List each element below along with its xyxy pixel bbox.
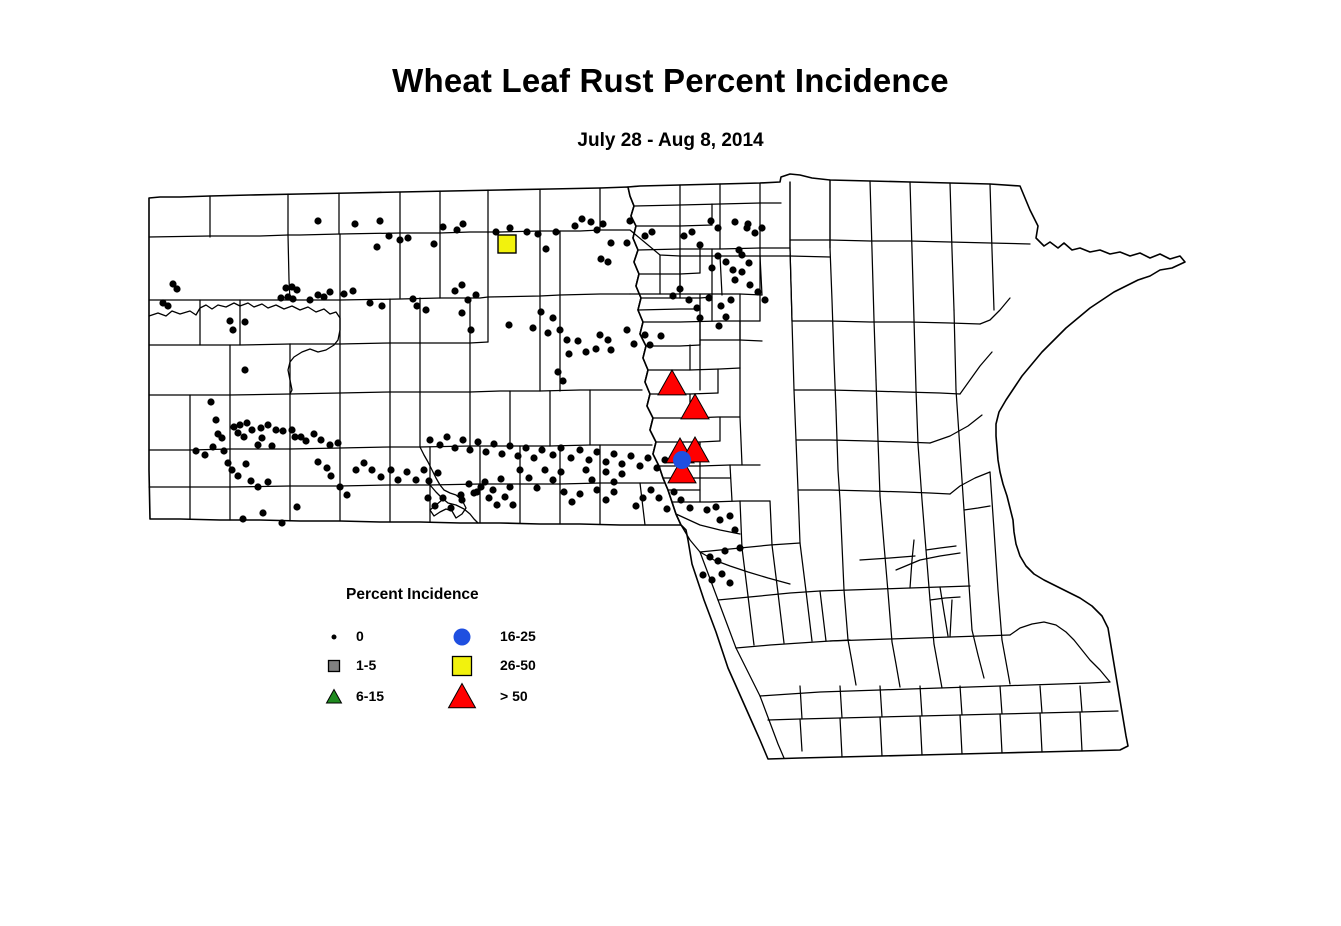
map-point-zero [498,450,505,457]
map-point-zero [653,464,660,471]
map-point-zero [636,462,643,469]
map-point-zero [243,419,250,426]
map-point-zero [761,296,768,303]
map-point-zero [726,579,733,586]
map-point-zero [451,444,458,451]
map-point-zero [509,501,516,508]
map-point-zero [242,460,249,467]
map-point-zero [506,483,513,490]
map-point-zero [758,224,765,231]
map-point-zero [522,444,529,451]
map-point-zero [703,506,710,513]
map-point-zero [485,494,492,501]
map-point-zero [655,494,662,501]
map-point-zero [464,296,471,303]
map-point-zero [648,228,655,235]
map-point-zero [715,322,722,329]
map-point-zero [368,466,375,473]
map-point-zero [571,222,578,229]
map-point-zero [459,436,466,443]
map-point-zero [602,468,609,475]
map-point-zero [501,493,508,500]
map-point-zero [727,296,734,303]
map-point-zero [639,494,646,501]
map-point-zero [385,232,392,239]
map-point-zero [630,340,637,347]
legend-symbol-small-black-dot [318,621,350,653]
map-point-zero [268,442,275,449]
map-point-zero [657,332,664,339]
map-point-zero [239,515,246,522]
map-point-zero [212,416,219,423]
map-point-zero [447,504,454,511]
map-point-zero [349,287,356,294]
map-point-zero [623,326,630,333]
map-point-zero [712,503,719,510]
map-point-zero [514,452,521,459]
map-point-zero [241,318,248,325]
map-point-zero [706,553,713,560]
map-point-zero [272,426,279,433]
map-point-zero [574,337,581,344]
map-point-zero [422,306,429,313]
map-point-zero [688,228,695,235]
map-point-zero [257,424,264,431]
map-point-zero [708,264,715,271]
map-point-zero [538,446,545,453]
map-point-zero [424,494,431,501]
map-point-zero [458,309,465,316]
map-point-zero [373,243,380,250]
map-point-zero [224,459,231,466]
map-point-zero [254,441,261,448]
map-point-zero [680,232,687,239]
map-point-zero [549,451,556,458]
map-point-zero [593,448,600,455]
map-point-zero [326,441,333,448]
map-point-zero [560,488,567,495]
map-point-zero [220,447,227,454]
map-point-zero [677,496,684,503]
map-point-zero [277,294,284,301]
map-point-zero [209,443,216,450]
map-point-zero [377,473,384,480]
map-point-zero [529,324,536,331]
map-point-zero [721,547,728,554]
map-point-zero [722,313,729,320]
map-point-zero [426,436,433,443]
map-point-zero [323,464,330,471]
map-point-zero [218,434,225,441]
map-point-zero [473,488,480,495]
map-canvas [0,0,1341,926]
map-point-zero [326,288,333,295]
legend-symbol-blue-circle [446,621,478,653]
map-point-zero [387,466,394,473]
map-point-zero [317,436,324,443]
map-point-zero [352,466,359,473]
map-page: Wheat Leaf Rust Percent Incidence July 2… [0,0,1341,926]
map-point-zero [258,434,265,441]
map-point-zero [751,229,758,236]
map-point-zero [282,284,289,291]
map-point-zero [593,486,600,493]
map-point-zero [459,220,466,227]
legend-title: Percent Incidence [346,586,479,604]
map-point-zero [489,486,496,493]
map-point-zero [549,314,556,321]
map-point-zero [745,259,752,266]
legend-label-gray-square: 1-5 [356,657,376,673]
map-point-zero [582,466,589,473]
map-point-zero [201,451,208,458]
map-point-zero [541,466,548,473]
map-point-zero [289,295,296,302]
map-point-zero [607,346,614,353]
map-point-zero [610,450,617,457]
map-point-zero [288,426,295,433]
map-point-zero [669,292,676,299]
map-point-zero [602,496,609,503]
map-point-zero [632,502,639,509]
map-point-zero [743,224,750,231]
map-point-zero [736,544,743,551]
map-point-zero [714,252,721,259]
map-point-zero [497,475,504,482]
map-point-zero [716,516,723,523]
map-point-zero [729,266,736,273]
map-point-zero [351,220,358,227]
map-point-zero [610,488,617,495]
map-point-zero [465,480,472,487]
map-point-zero [585,456,592,463]
map-point-zero [229,326,236,333]
map-point-zero [563,336,570,343]
map-point-zero [738,251,745,258]
map-point-zero [457,491,464,498]
map-point-zero [623,239,630,246]
map-point-zero [291,433,298,440]
map-point-zero [247,477,254,484]
map-point-zero [626,217,633,224]
map-point-zero [293,503,300,510]
map-point-zero [306,296,313,303]
legend-label-green-triangle: 6-15 [356,688,384,704]
map-point-zero [542,245,549,252]
map-point-zero [336,483,343,490]
map-point-zero [533,484,540,491]
legend-symbol-green-triangle [318,681,350,713]
map-point-zero [430,240,437,247]
map-point-16-25 [673,451,691,469]
map-point-zero [404,234,411,241]
map-point-zero [481,478,488,485]
map-point-zero [731,218,738,225]
map-point-zero [505,321,512,328]
map-point-zero [366,299,373,306]
map-point-zero [557,468,564,475]
map-point-zero [685,296,692,303]
map-point-zero [559,377,566,384]
map-point-zero [378,302,385,309]
map-point-zero [360,459,367,466]
map-point-zero [234,429,241,436]
map-point-zero [576,446,583,453]
map-point-zero [552,228,559,235]
map-point-zero [434,469,441,476]
map-point-zero [310,430,317,437]
map-point-zero [409,295,416,302]
map-point-zero [593,226,600,233]
map-point-zero [537,308,544,315]
map-point-zero [647,486,654,493]
map-point-zero [554,368,561,375]
north-dakota-outline [149,187,681,525]
map-point-zero [627,452,634,459]
map-point-zero [676,285,683,292]
map-point-zero [254,483,261,490]
map-point-zero [693,304,700,311]
map-point-zero [314,217,321,224]
map-point-zero [234,472,241,479]
map-point-zero [425,477,432,484]
map-point-zero [431,502,438,509]
map-point-zero [602,458,609,465]
map-point-zero [708,576,715,583]
map-point-zero [240,433,247,440]
map-point-zero [523,228,530,235]
map-point-zero [549,476,556,483]
legend-symbol-gray-square [318,650,350,682]
map-point-zero [453,226,460,233]
map-point-zero [696,314,703,321]
map-point-zero [544,329,551,336]
map-point-26-50 [498,235,516,253]
legend-label-blue-circle: 16-25 [500,628,536,644]
map-point-zero [582,348,589,355]
map-point-zero [396,236,403,243]
map-point-zero [556,326,563,333]
map-point-zero [293,286,300,293]
map-point-zero [738,268,745,275]
map-point-zero [604,336,611,343]
map-point-zero [726,512,733,519]
map-point-zero [588,476,595,483]
map-point-zero [474,438,481,445]
map-point-zero [506,224,513,231]
map-point-zero [493,501,500,508]
map-point-zero [343,491,350,498]
map-point-zero [516,466,523,473]
map-point-zero [314,458,321,465]
map-point-zero [394,476,401,483]
map-point-zero [439,223,446,230]
map-point-zero [506,442,513,449]
map-point-zero [646,341,653,348]
map-point-zero [731,276,738,283]
map-point-zero [340,290,347,297]
map-point-zero [279,427,286,434]
map-point-zero [236,421,243,428]
legend-symbol-red-triangle [446,681,478,713]
map-point-zero [241,366,248,373]
map-point-zero [482,448,489,455]
map-point-zero [334,439,341,446]
map-point-zero [618,460,625,467]
map-point-zero [458,281,465,288]
map-point-zero [644,454,651,461]
map-point-zero [604,258,611,265]
map-point-zero [264,478,271,485]
legend-label-red-triangle: > 50 [500,688,528,704]
legend-symbol-yellow-square [446,650,478,682]
map-point-zero [699,571,706,578]
map-point-zero [490,440,497,447]
map-point-zero [530,454,537,461]
map-point-zero [696,241,703,248]
map-point-zero [525,474,532,481]
map-point-zero [578,215,585,222]
map-point-zero [420,466,427,473]
map-point-zero [439,494,446,501]
map-point-zero [607,239,614,246]
map-point-zero [192,447,199,454]
map-point-zero [707,217,714,224]
map-point-zero [226,317,233,324]
map-point-zero [717,302,724,309]
map-point-zero [534,230,541,237]
map-point-zero [259,509,266,516]
map-point-zero [597,255,604,262]
map-point-zero [228,466,235,473]
legend-label-yellow-square: 26-50 [500,657,536,673]
map-point-zero [376,217,383,224]
map-point-zero [173,285,180,292]
map-point-zero [714,557,721,564]
map-point-zero [413,302,420,309]
map-point-zero [641,232,648,239]
map-point-zero [618,470,625,477]
map-point-zero [451,287,458,294]
map-point-zero [714,224,721,231]
map-point-zero [592,345,599,352]
map-point-zero [443,433,450,440]
map-point-zero [207,398,214,405]
legend-label-small-black-dot: 0 [356,628,364,644]
map-point-zero [718,570,725,577]
map-point-zero [557,444,564,451]
map-point-zero [302,437,309,444]
map-point-zero [641,331,648,338]
map-point-zero [596,331,603,338]
map-point-zero [722,258,729,265]
map-point-zero [567,454,574,461]
map-point-zero [754,288,761,295]
map-point-zero [568,498,575,505]
map-point-zero [264,421,271,428]
map-point-zero [472,291,479,298]
map-point-zero [587,218,594,225]
map-point-zero [663,505,670,512]
map-point-zero [412,476,419,483]
map-point-zero [565,350,572,357]
map-point-zero [705,294,712,301]
map-point-zero [746,281,753,288]
map-point-zero [164,302,171,309]
map-point-zero [320,293,327,300]
map-point-zero [467,326,474,333]
map-point-zero [731,526,738,533]
map-point-zero [278,519,285,526]
map-point-zero [670,488,677,495]
map-point-zero [327,472,334,479]
map-point-zero [466,446,473,453]
map-point-zero [599,220,606,227]
map-point-zero [686,504,693,511]
map-point-zero [403,468,410,475]
map-point-zero [576,490,583,497]
map-point-zero [436,441,443,448]
map-point-zero [248,426,255,433]
map-point-zero [610,478,617,485]
